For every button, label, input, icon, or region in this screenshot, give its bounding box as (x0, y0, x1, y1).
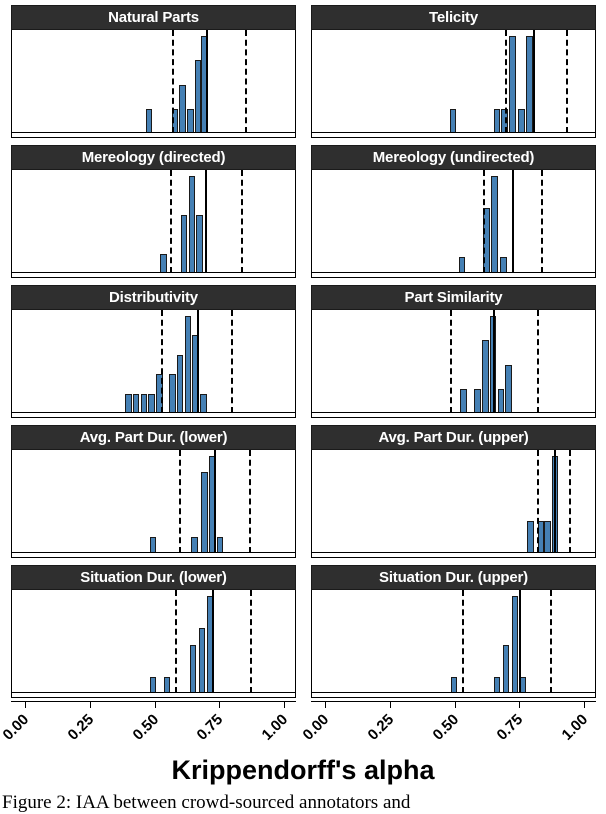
facet-panel: Distributivity (11, 285, 296, 418)
axis-tick-label: 0.25 (364, 711, 397, 744)
histogram-bar (169, 374, 175, 413)
histogram-bar (125, 394, 131, 413)
histogram-bar (181, 215, 187, 273)
x-axis-right: 0.000.250.500.751.00 (311, 701, 596, 741)
axis-tick-label: 0.50 (429, 711, 462, 744)
sd-dashed-line (537, 310, 539, 413)
axis-tick-label: 0.75 (194, 711, 227, 744)
sd-dashed-line (241, 170, 243, 273)
facet-strip-label: Mereology (directed) (11, 145, 296, 170)
facet-title-text: Part Similarity (405, 289, 503, 306)
histogram-bar (148, 394, 154, 413)
facet-title-text: Mereology (directed) (82, 149, 226, 166)
axis-tick-label: 0.00 (300, 711, 333, 744)
facet-plot-area (311, 310, 596, 418)
histogram-bar (505, 365, 511, 414)
sd-dashed-line (541, 170, 543, 273)
facet-strip-label: Natural Parts (11, 5, 296, 30)
facet-title-text: Mereology (undirected) (373, 149, 534, 166)
sd-dashed-line (249, 450, 251, 553)
axis-tick-label: 0.50 (129, 711, 162, 744)
axis-tick-label: 1.00 (559, 711, 592, 744)
sd-dashed-line (245, 30, 247, 133)
histogram-bar (141, 394, 147, 413)
histogram-bar (451, 677, 457, 693)
sd-dashed-line (505, 30, 507, 133)
facet-title-text: Avg. Part Dur. (upper) (378, 429, 528, 446)
baseline-axis (12, 552, 295, 553)
facet-plot-inner (312, 590, 595, 697)
histogram-bar (450, 109, 456, 133)
mean-solid-line (206, 30, 208, 133)
sd-dashed-line (537, 450, 539, 553)
histogram-bar (195, 60, 201, 133)
facet-title-text: Situation Dur. (lower) (80, 569, 226, 586)
baseline-axis (12, 412, 295, 413)
histogram-bar (191, 537, 197, 553)
histogram-bar (150, 677, 156, 693)
histogram-bar (482, 340, 488, 413)
histogram-bar (509, 36, 515, 133)
figure-container: Natural PartsTelicityMereology (directed… (0, 0, 606, 812)
axis-tick-label: 0.25 (64, 711, 97, 744)
mean-solid-line (533, 30, 535, 133)
histogram-bar (527, 521, 533, 553)
axis-tick-label: 0.75 (494, 711, 527, 744)
facet-panel: Situation Dur. (lower) (11, 565, 296, 698)
facet-plot-inner (12, 170, 295, 277)
x-axis-left: 0.000.250.500.751.00 (11, 701, 296, 741)
histogram-bar (474, 389, 480, 413)
axis-line (11, 701, 296, 702)
facet-panel: Telicity (311, 5, 596, 138)
facet-plot-inner (312, 450, 595, 557)
facet-strip-label: Situation Dur. (upper) (311, 565, 596, 590)
facet-strip-label: Telicity (311, 5, 596, 30)
histogram-bar (518, 109, 524, 133)
facet-plot-area (311, 30, 596, 138)
facet-title-text: Natural Parts (108, 9, 199, 26)
mean-solid-line (512, 170, 514, 273)
mean-solid-line (197, 310, 199, 413)
facet-title-text: Distributivity (109, 289, 198, 306)
histogram-bar (177, 355, 183, 413)
sd-dashed-line (175, 590, 177, 693)
histogram-bar (150, 537, 156, 553)
sd-dashed-line (450, 310, 452, 413)
axis-tick (90, 701, 91, 708)
histogram-bar (190, 645, 196, 694)
mean-solid-line (212, 590, 214, 693)
axis-tick-label: 0.00 (0, 711, 32, 744)
facet-plot-inner (12, 30, 295, 137)
facet-panel: Situation Dur. (upper) (311, 565, 596, 698)
histogram-bar (498, 389, 504, 413)
histogram-bar (526, 36, 532, 133)
facet-plot-area (11, 170, 296, 278)
axis-tick (284, 701, 285, 708)
histogram-bar (460, 389, 466, 413)
baseline-axis (312, 552, 595, 553)
mean-solid-line (554, 450, 556, 553)
facet-plot-area (11, 30, 296, 138)
histogram-bar (200, 394, 206, 413)
facet-panel: Natural Parts (11, 5, 296, 138)
facet-plot-area (11, 450, 296, 558)
facet-panel: Avg. Part Dur. (lower) (11, 425, 296, 558)
facet-title-text: Situation Dur. (upper) (379, 569, 528, 586)
histogram-bar (189, 176, 195, 273)
facet-strip-label: Situation Dur. (lower) (11, 565, 296, 590)
baseline-axis (312, 692, 595, 693)
facet-plot-inner (12, 590, 295, 697)
facet-plot-inner (312, 170, 595, 277)
sd-dashed-line (231, 310, 233, 413)
sd-dashed-line (483, 170, 485, 273)
facet-panel: Mereology (undirected) (311, 145, 596, 278)
baseline-axis (12, 692, 295, 693)
facet-strip-label: Part Similarity (311, 285, 596, 310)
facet-strip-label: Distributivity (11, 285, 296, 310)
histogram-bar (201, 472, 207, 553)
facet-plot-inner (12, 450, 295, 557)
facet-panel: Part Similarity (311, 285, 596, 418)
axis-tick (25, 701, 26, 708)
sd-dashed-line (179, 450, 181, 553)
histogram-bar (217, 537, 223, 553)
axis-tick (519, 701, 520, 708)
sd-dashed-line (250, 590, 252, 693)
sd-dashed-line (161, 310, 163, 413)
facet-plot-area (11, 310, 296, 418)
facet-panel: Avg. Part Dur. (upper) (311, 425, 596, 558)
histogram-bar (494, 109, 500, 133)
mean-solid-line (519, 590, 521, 693)
axis-tick (584, 701, 585, 708)
facet-plot-inner (312, 310, 595, 417)
axis-tick-label: 1.00 (259, 711, 292, 744)
facet-grid: Natural PartsTelicityMereology (directed… (0, 0, 606, 700)
histogram-bar (500, 257, 506, 273)
baseline-axis (312, 412, 595, 413)
facet-title-text: Avg. Part Dur. (lower) (80, 429, 228, 446)
axis-tick (325, 701, 326, 708)
facet-strip-label: Avg. Part Dur. (upper) (311, 425, 596, 450)
axis-tick (155, 701, 156, 708)
histogram-bar (133, 394, 139, 413)
facet-plot-area (311, 590, 596, 698)
baseline-axis (312, 132, 595, 133)
sd-dashed-line (462, 590, 464, 693)
facet-plot-inner (312, 30, 595, 137)
axis-tick (219, 701, 220, 708)
histogram-bar (185, 316, 191, 413)
x-axis-label: Krippendorff's alpha (0, 755, 606, 786)
baseline-axis (312, 272, 595, 273)
sd-dashed-line (569, 450, 571, 553)
histogram-bar (160, 254, 166, 273)
baseline-axis (12, 272, 295, 273)
figure-caption: Figure 2: IAA between crowd-sourced anno… (2, 792, 606, 814)
histogram-bar (196, 215, 202, 273)
histogram-bar (164, 677, 170, 693)
histogram-bar (146, 109, 152, 133)
axis-tick (390, 701, 391, 708)
facet-plot-area (11, 590, 296, 698)
axis-line (311, 701, 596, 702)
histogram-bar (503, 645, 509, 694)
histogram-bar (544, 521, 550, 553)
mean-solid-line (205, 170, 207, 273)
histogram-bar (459, 257, 465, 273)
histogram-bar (187, 109, 193, 133)
histogram-bar (199, 628, 205, 693)
sd-dashed-line (172, 30, 174, 133)
facet-plot-area (311, 170, 596, 278)
facet-strip-label: Avg. Part Dur. (lower) (11, 425, 296, 450)
facet-title-text: Telicity (429, 9, 478, 26)
facet-plot-inner (12, 310, 295, 417)
axis-tick (455, 701, 456, 708)
histogram-bar (512, 596, 518, 693)
sd-dashed-line (170, 170, 172, 273)
histogram-bar (491, 176, 497, 273)
mean-solid-line (214, 450, 216, 553)
sd-dashed-line (550, 590, 552, 693)
facet-strip-label: Mereology (undirected) (311, 145, 596, 170)
facet-panel: Mereology (directed) (11, 145, 296, 278)
sd-dashed-line (566, 30, 568, 133)
facet-plot-area (311, 450, 596, 558)
mean-solid-line (493, 310, 495, 413)
baseline-axis (12, 132, 295, 133)
histogram-bar (494, 677, 500, 693)
histogram-bar (179, 85, 185, 134)
